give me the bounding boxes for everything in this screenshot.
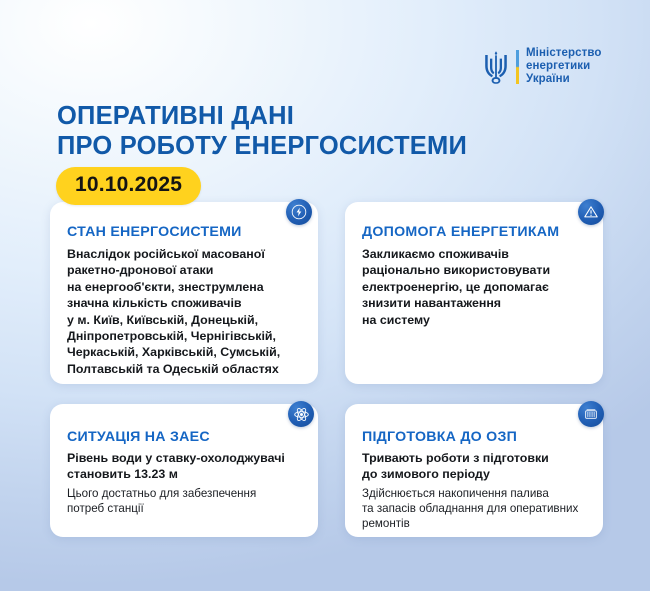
page-title-line: ПРО РОБОТУ ЕНЕРГОСИСТЕМИ bbox=[57, 131, 467, 161]
warning-triangle-icon bbox=[578, 199, 604, 225]
logo-text-line: України bbox=[526, 73, 570, 85]
card-subtext-line: та запасів обладнання для оперативних bbox=[362, 501, 587, 516]
radiator-icon bbox=[578, 401, 604, 427]
card-body-line: Дніпропетровській, Чернігівській, bbox=[67, 328, 302, 344]
card-body: Закликаємо споживачів раціонально викори… bbox=[362, 246, 587, 328]
card-body-line: раціонально використовувати bbox=[362, 262, 587, 278]
card-dopomoha-enerhetykam: ДОПОМОГА ЕНЕРГЕТИКАМ Закликаємо споживач… bbox=[345, 202, 603, 384]
ministry-logo: Міністерство енергетики України bbox=[483, 47, 602, 87]
card-subtext-line: Цього достатньо для забезпечення bbox=[67, 486, 302, 501]
card-subtext-line: ремонтів bbox=[362, 516, 587, 531]
card-subtext-line: Здійснюється накопичення палива bbox=[362, 486, 587, 501]
card-stan-enerhosystemy: СТАН ЕНЕРГОСИСТЕМИ Внаслідок російської … bbox=[50, 202, 318, 384]
atom-icon bbox=[288, 401, 314, 427]
card-body-line: Тривають роботи з підготовки bbox=[362, 450, 587, 466]
card-body-line: значна кількість споживачів bbox=[67, 295, 302, 311]
ukraine-trident-icon bbox=[483, 50, 509, 84]
card-body-line: на систему bbox=[362, 312, 587, 328]
card-body-line: електроенергію, це допомагає bbox=[362, 279, 587, 295]
card-body-line: Рівень води у ставку-охолоджувачі bbox=[67, 450, 302, 466]
card-content: ДОПОМОГА ЕНЕРГЕТИКАМ Закликаємо споживач… bbox=[345, 202, 603, 338]
card-body-line: Закликаємо споживачів bbox=[362, 246, 587, 262]
card-content: СИТУАЦІЯ НА ЗАЕС Рівень води у ставку-ох… bbox=[50, 404, 318, 526]
card-subtext: Цього достатньо для забезпечення потреб … bbox=[67, 486, 302, 516]
card-body: Рівень води у ставку-охолоджувачі станов… bbox=[67, 450, 302, 483]
card-title: СТАН ЕНЕРГОСИСТЕМИ bbox=[67, 224, 302, 240]
card-subtext-line: потреб станції bbox=[67, 501, 302, 516]
card-body-line: Черкаській, Харківській, Сумській, bbox=[67, 344, 302, 360]
card-body-line: Внаслідок російської масованої bbox=[67, 246, 302, 262]
electricity-bolt-icon bbox=[286, 199, 312, 225]
card-content: СТАН ЕНЕРГОСИСТЕМИ Внаслідок російської … bbox=[50, 202, 318, 387]
logo-text-line: енергетики bbox=[526, 60, 590, 72]
page-title-line: ОПЕРАТИВНІ ДАНІ bbox=[57, 101, 467, 131]
card-title: ДОПОМОГА ЕНЕРГЕТИКАМ bbox=[362, 224, 587, 240]
infographic-poster: Міністерство енергетики України ОПЕРАТИВ… bbox=[0, 0, 650, 591]
logo-text: Міністерство енергетики України bbox=[526, 47, 602, 87]
card-body-line: у м. Київ, Київській, Донецькій, bbox=[67, 312, 302, 328]
card-body-line: на енергооб'єкти, знеструмлена bbox=[67, 279, 302, 295]
card-body-line: становить 13.23 м bbox=[67, 466, 302, 482]
card-title: ПІДГОТОВКА ДО ОЗП bbox=[362, 429, 587, 445]
card-body-line: ракетно-дронової атаки bbox=[67, 262, 302, 278]
logo-divider bbox=[516, 50, 519, 84]
card-title: СИТУАЦІЯ НА ЗАЕС bbox=[67, 429, 302, 445]
card-body-line: до зимового періоду bbox=[362, 466, 587, 482]
card-pidhotovka-do-ozp: ПІДГОТОВКА ДО ОЗП Тривають роботи з підг… bbox=[345, 404, 603, 537]
date-badge: 10.10.2025 bbox=[56, 167, 201, 205]
card-subtext: Здійснюється накопичення палива та запас… bbox=[362, 486, 587, 532]
card-sytuatsiya-na-zaes: СИТУАЦІЯ НА ЗАЕС Рівень води у ставку-ох… bbox=[50, 404, 318, 537]
logo-text-line: Міністерство bbox=[526, 47, 602, 59]
card-content: ПІДГОТОВКА ДО ОЗП Тривають роботи з підг… bbox=[345, 404, 603, 541]
card-body-line: Полтавській та Одеській областях bbox=[67, 361, 302, 377]
card-body: Внаслідок російської масованої ракетно-д… bbox=[67, 246, 302, 377]
card-body: Тривають роботи з підготовки до зимового… bbox=[362, 450, 587, 483]
page-title: ОПЕРАТИВНІ ДАНІ ПРО РОБОТУ ЕНЕРГОСИСТЕМИ bbox=[57, 101, 467, 161]
card-body-line: знизити навантаження bbox=[362, 295, 587, 311]
